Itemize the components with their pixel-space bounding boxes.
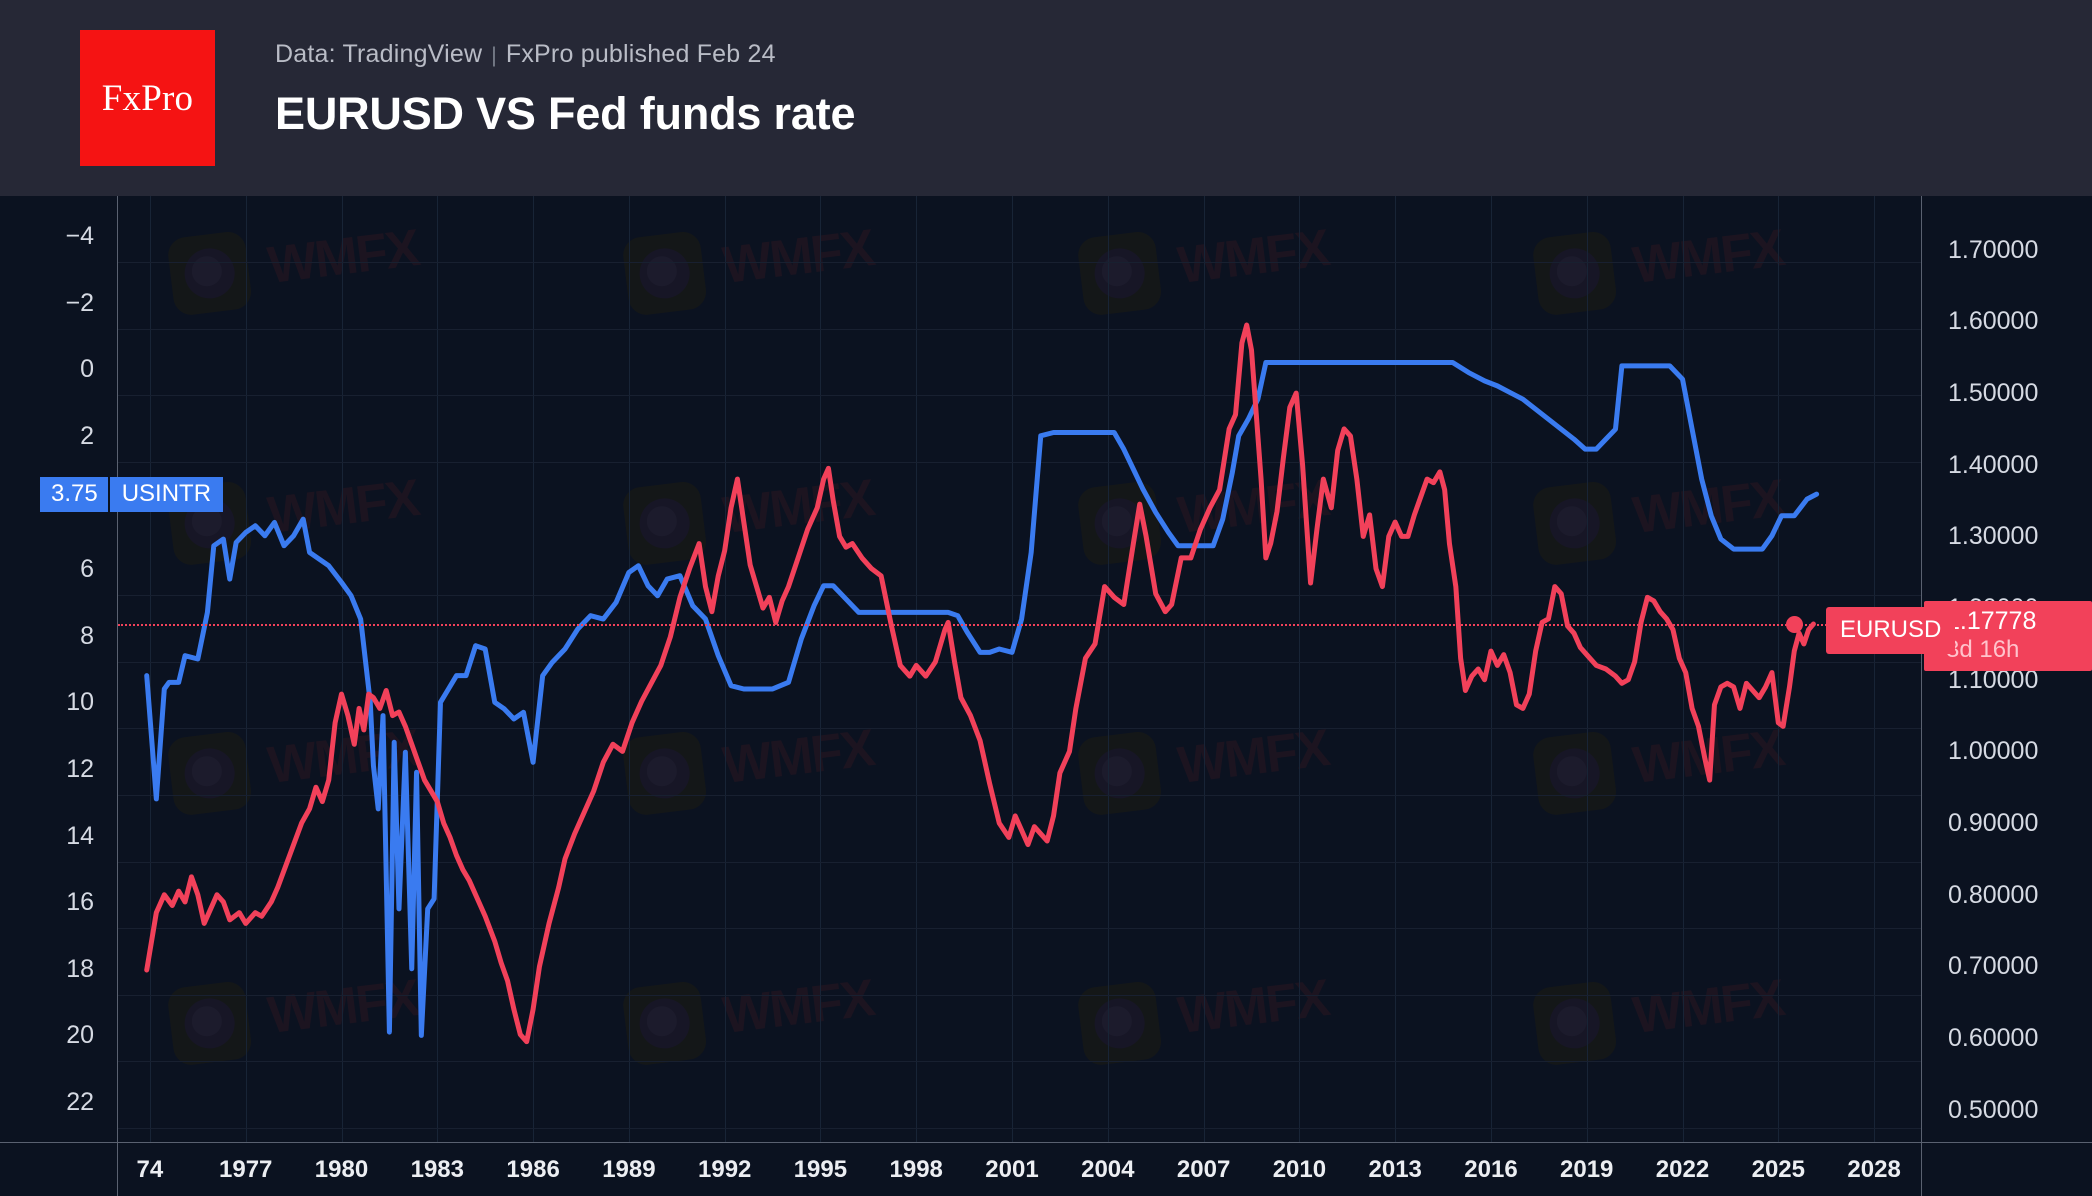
- series-layer: [118, 196, 1922, 1142]
- eurusd-name: EURUSD: [1840, 618, 1941, 642]
- left-axis-tick-label: 18: [66, 957, 94, 982]
- time-axis-tick-label: 2001: [985, 1158, 1038, 1182]
- usintr-value: 3.75: [40, 477, 108, 512]
- eurusd-countdown: 3d 16h: [1946, 636, 2092, 664]
- time-axis-tick-label: 1980: [315, 1158, 368, 1182]
- right-axis-tick-label: 1.60000: [1948, 309, 2038, 334]
- eurusd-price-value: 1.17778: [1946, 606, 2092, 636]
- left-axis-tick-label: 22: [66, 1090, 94, 1115]
- time-axis-tick-label: 1998: [889, 1158, 942, 1182]
- chart-screenshot: FxPro Data: TradingView|FxPro published …: [0, 0, 2092, 1196]
- right-axis-tick-label: 1.50000: [1948, 381, 2038, 406]
- time-axis-tick-label: 2007: [1177, 1158, 1230, 1182]
- time-axis-tick-label: 1983: [411, 1158, 464, 1182]
- left-axis-tick-label: −2: [65, 291, 94, 316]
- time-axis-tick-label: 2010: [1273, 1158, 1326, 1182]
- usintr-line: [147, 363, 1817, 1036]
- left-axis-tick-label: 14: [66, 824, 94, 849]
- right-axis-tick-label: 0.50000: [1948, 1098, 2038, 1123]
- usintr-name: USINTR: [110, 477, 223, 512]
- page-title: EURUSD VS Fed funds rate: [275, 83, 855, 145]
- data-source-label: Data: TradingView: [275, 40, 482, 68]
- right-axis-tick-label: 1.00000: [1948, 739, 2038, 764]
- left-axis-tick-label: 6: [80, 557, 94, 582]
- time-axis-tick-label: 2028: [1847, 1158, 1900, 1182]
- chart-subtitle: Data: TradingView|FxPro published Feb 24: [275, 38, 855, 72]
- time-axis-tick-label: 2019: [1560, 1158, 1613, 1182]
- chart-canvas[interactable]: WMFXWMFXWMFXWMFXWMFXWMFXWMFXWMFXWMFXWMFX…: [0, 196, 2092, 1196]
- right-axis-tick-label: 0.90000: [1948, 811, 2038, 836]
- header-text-block: Data: TradingView|FxPro published Feb 24…: [275, 38, 855, 145]
- bottom-axis-line: [0, 1142, 2092, 1143]
- left-axis-line: [117, 196, 118, 1196]
- eurusd-last-point-marker: [1786, 616, 1803, 633]
- current-price-dotted-line: [118, 624, 1922, 626]
- right-axis-tick-label: 1.10000: [1948, 668, 2038, 693]
- logo-text: FxPro: [102, 77, 193, 120]
- time-axis-tick-label: 74: [137, 1158, 164, 1182]
- header-bar: FxPro Data: TradingView|FxPro published …: [0, 0, 2092, 196]
- right-axis-tick-label: 0.70000: [1948, 954, 2038, 979]
- time-axis-tick-label: 2013: [1368, 1158, 1421, 1182]
- left-axis-tick-label: 0: [80, 357, 94, 382]
- time-axis-tick-label: 1977: [219, 1158, 272, 1182]
- left-axis-tick-label: 8: [80, 624, 94, 649]
- time-axis-tick-label: 2025: [1752, 1158, 1805, 1182]
- left-axis-tick-label: 2: [80, 424, 94, 449]
- right-axis-tick-label: 1.40000: [1948, 453, 2038, 478]
- publisher-label: FxPro published Feb 24: [506, 40, 776, 68]
- right-axis-line: [1921, 196, 1922, 1196]
- right-axis-tick-label: 0.60000: [1948, 1026, 2038, 1051]
- subtitle-separator: |: [491, 44, 497, 67]
- right-axis-tick-label: 1.30000: [1948, 524, 2038, 549]
- eurusd-name-tag[interactable]: EURUSD: [1826, 607, 1955, 654]
- left-axis-tick-label: 10: [66, 690, 94, 715]
- time-axis-tick-label: 1986: [506, 1158, 559, 1182]
- time-axis-tick-label: 2004: [1081, 1158, 1134, 1182]
- left-axis-tick-label: −4: [65, 224, 94, 249]
- time-axis-tick-label: 1989: [602, 1158, 655, 1182]
- right-axis-tick-label: 1.70000: [1948, 238, 2038, 263]
- left-axis-tick-label: 20: [66, 1023, 94, 1048]
- usintr-legend-badge[interactable]: 3.75 USINTR: [40, 478, 223, 510]
- left-axis-tick-label: 16: [66, 890, 94, 915]
- time-axis-tick-label: 1995: [794, 1158, 847, 1182]
- fxpro-logo: FxPro: [80, 30, 215, 166]
- right-axis-tick-label: 0.80000: [1948, 883, 2038, 908]
- time-axis-tick-label: 2022: [1656, 1158, 1709, 1182]
- left-axis-tick-label: 12: [66, 757, 94, 782]
- time-axis-tick-label: 2016: [1464, 1158, 1517, 1182]
- time-axis-tick-label: 1992: [698, 1158, 751, 1182]
